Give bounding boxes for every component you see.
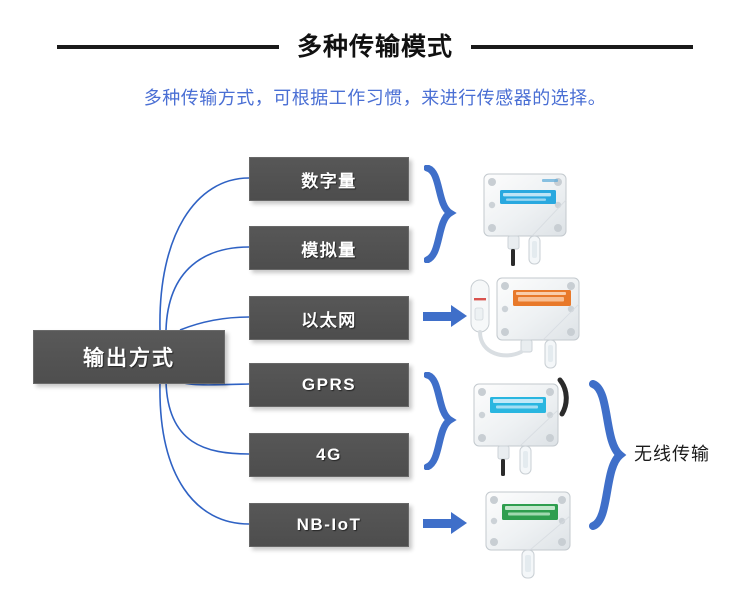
infographic-canvas: 多种传输模式 多种传输方式，可根据工作习惯，来进行传感器的选择。 输出方式 数字… [0,0,750,606]
mode-label: 以太网 [301,306,357,331]
arrow-shaft [423,519,453,528]
arrow-shaft [423,312,453,321]
mode-box-nbiot[interactable]: NB-IoT [249,503,409,547]
brace-wireless-group [588,380,628,530]
mode-label: 模拟量 [301,236,357,261]
wireless-transmission-label: 无线传输 [634,440,710,466]
header-rule-left [57,45,279,49]
mode-label: 数字量 [301,167,357,192]
wire-to-digital [160,178,249,330]
mode-box-digital[interactable]: 数字量 [249,157,409,201]
antenna-icon [560,380,566,414]
wire-to-analog [166,247,249,330]
header-rule-right [471,45,693,49]
source-node-label: 输出方式 [83,342,175,372]
header: 多种传输模式 [0,26,750,68]
arrow-ethernet-to-device [423,305,467,327]
mode-label: 4G [316,445,342,465]
brace-group-gprs-4g [424,372,458,470]
device-no-sensor [462,372,590,480]
device-temp-humidity-wall [470,160,580,270]
arrow-head [451,512,467,534]
wire-to-ethernet [180,317,249,330]
mode-box-analog[interactable]: 模拟量 [249,226,409,270]
mode-box-ethernet[interactable]: 以太网 [249,296,409,340]
device-temp-humidity-green [472,482,584,582]
mode-box-gprs[interactable]: GPRS [249,363,409,407]
brace-group-digital-analog [424,165,458,263]
device-temp-humidity-probe [463,268,588,378]
source-node-output-mode[interactable]: 输出方式 [33,330,225,384]
page-subtitle: 多种传输方式，可根据工作习惯，来进行传感器的选择。 [0,84,750,110]
mode-label: GPRS [302,375,356,395]
arrow-nbiot-to-device [423,512,467,534]
mode-box-4g[interactable]: 4G [249,433,409,477]
wire-to-4g [166,382,249,454]
device-label-strip [500,190,556,204]
page-title: 多种传输模式 [297,35,453,60]
mode-label: NB-IoT [297,515,362,535]
wire-to-nbiot [160,382,249,524]
